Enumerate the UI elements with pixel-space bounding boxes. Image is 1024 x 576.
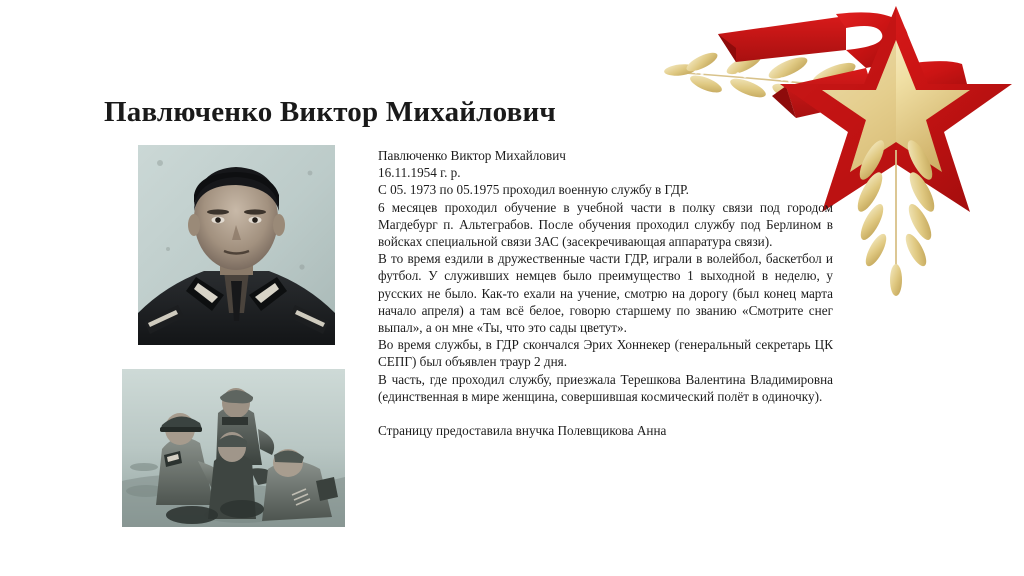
portrait-photo bbox=[138, 145, 335, 345]
red-ribbon bbox=[718, 12, 970, 118]
page-title: Павлюченко Виктор Михайлович bbox=[104, 95, 556, 129]
slide-page: Павлюченко Виктор Михайлович bbox=[0, 0, 1024, 576]
text-para-tereshkova: В часть, где проходил службу, приезжала … bbox=[378, 371, 833, 405]
text-para-sports: В то время ездили в дружественные части … bbox=[378, 250, 833, 336]
text-para-honecker: Во время службы, в ГДР скончался Эрих Хо… bbox=[378, 336, 833, 370]
text-para-training: 6 месяцев проходил обучение в учебной ча… bbox=[378, 199, 833, 251]
group-photo bbox=[122, 369, 345, 527]
biography-text: Павлюченко Виктор Михайлович 16.11.1954 … bbox=[378, 147, 833, 439]
text-credit: Страницу предоставила внучка Полевщикова… bbox=[378, 422, 833, 439]
text-line-service: С 05. 1973 по 05.1975 проходил военную с… bbox=[378, 181, 833, 198]
text-line-name: Павлюченко Виктор Михайлович bbox=[378, 147, 833, 164]
laurel-branch-down bbox=[853, 137, 939, 296]
text-line-birth: 16.11.1954 г. р. bbox=[378, 164, 833, 181]
gold-star bbox=[822, 40, 970, 172]
laurel-branch-left bbox=[664, 49, 910, 126]
